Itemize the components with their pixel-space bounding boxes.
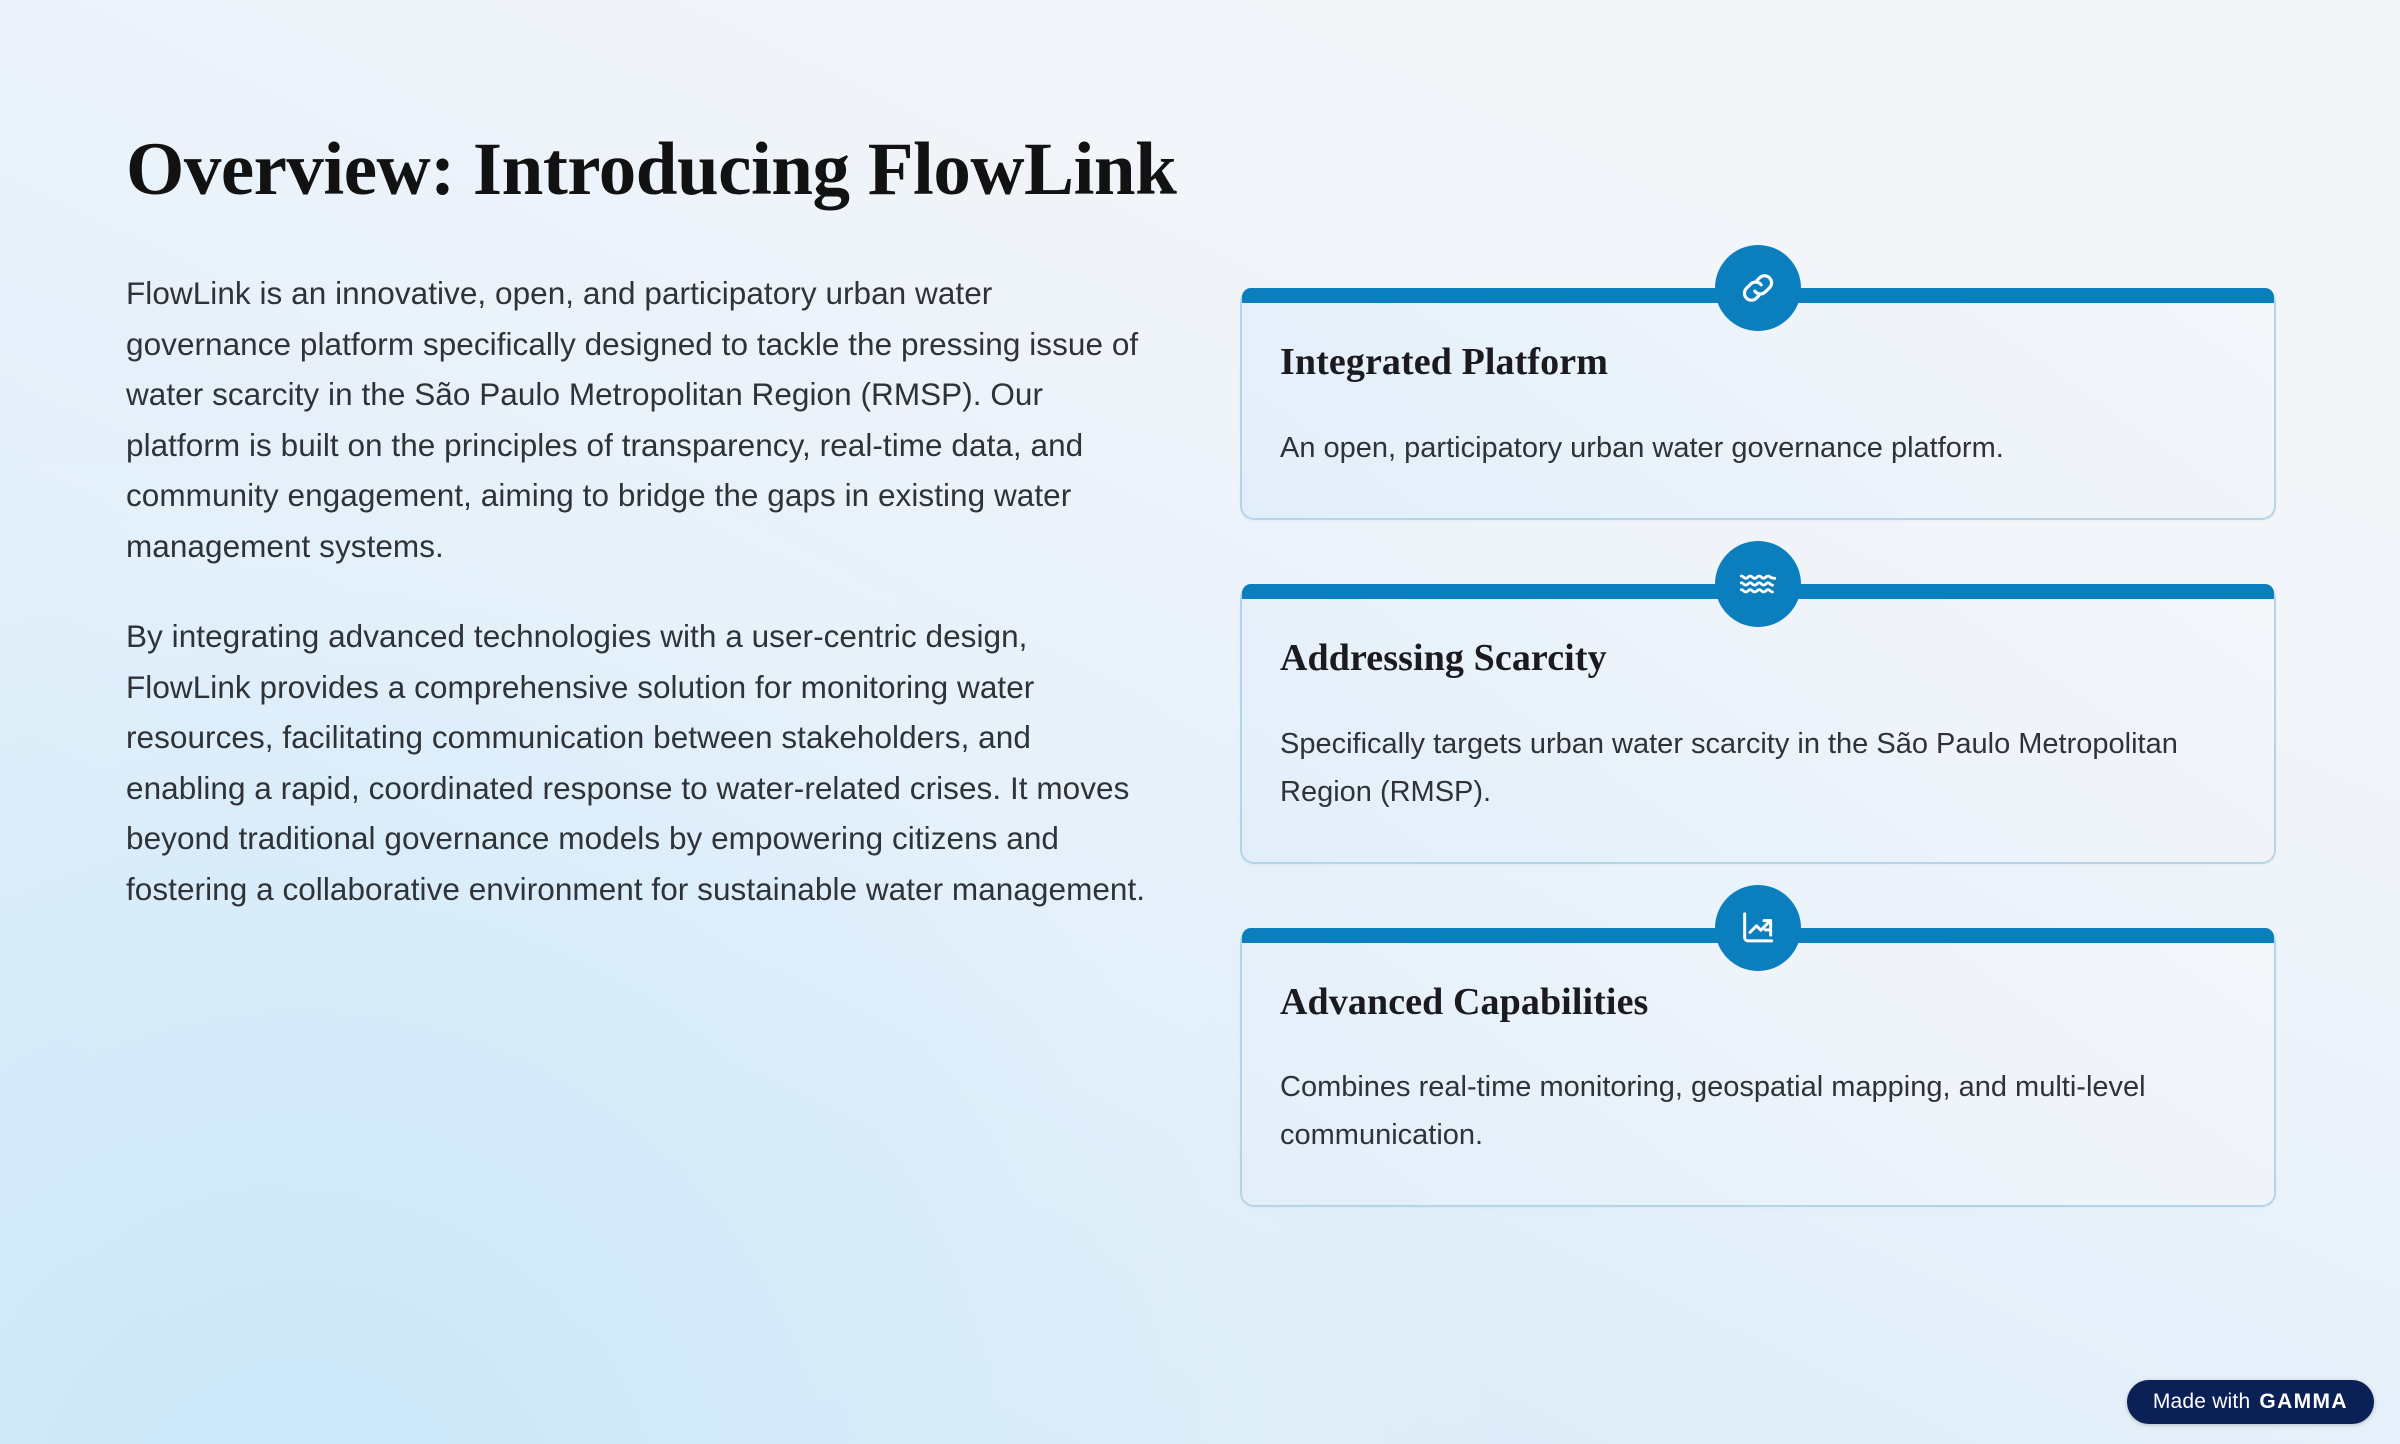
- feature-card-description: Combines real-time monitoring, geospatia…: [1280, 1063, 2236, 1159]
- trending-chart-icon: [1715, 885, 1801, 971]
- overview-paragraph-1: FlowLink is an innovative, open, and par…: [126, 268, 1156, 571]
- page-title: Overview: Introducing FlowLink: [126, 132, 1176, 207]
- overview-text-column: FlowLink is an innovative, open, and par…: [126, 268, 1156, 914]
- slide-canvas: Overview: Introducing FlowLink FlowLink …: [0, 0, 2400, 1444]
- feature-card-title: Integrated Platform: [1280, 342, 2236, 384]
- badge-prefix-label: Made with: [2153, 1390, 2251, 1414]
- feature-card-addressing-scarcity[interactable]: Addressing Scarcity Specifically targets…: [1240, 584, 2276, 864]
- badge-brand-label: GAMMA: [2259, 1390, 2348, 1414]
- feature-card-description: An open, participatory urban water gover…: [1280, 424, 2236, 472]
- chain-link-icon: [1715, 245, 1801, 331]
- made-with-gamma-badge[interactable]: Made with GAMMA: [2127, 1380, 2374, 1424]
- feature-card-title: Addressing Scarcity: [1280, 638, 2236, 680]
- feature-card-description: Specifically targets urban water scarcit…: [1280, 720, 2236, 816]
- water-waves-icon: [1715, 541, 1801, 627]
- feature-card-advanced-capabilities[interactable]: Advanced Capabilities Combines real-time…: [1240, 928, 2276, 1208]
- feature-card-list: Integrated Platform An open, participato…: [1240, 288, 2276, 1207]
- feature-card-title: Advanced Capabilities: [1280, 982, 2236, 1024]
- feature-card-integrated-platform[interactable]: Integrated Platform An open, participato…: [1240, 288, 2276, 520]
- overview-paragraph-2: By integrating advanced technologies wit…: [126, 611, 1156, 914]
